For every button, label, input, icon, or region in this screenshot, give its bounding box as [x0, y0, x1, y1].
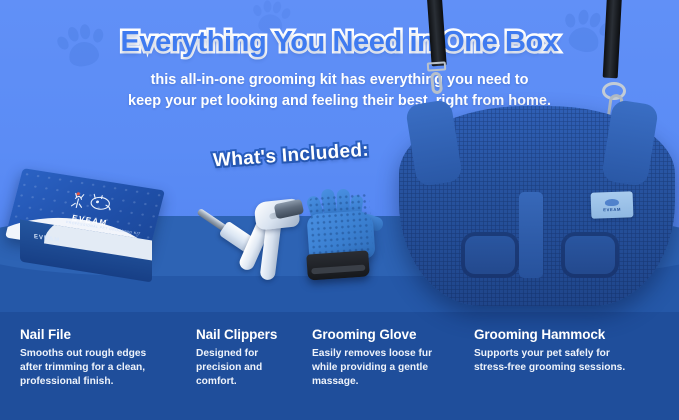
hammock-center-strap — [519, 192, 543, 278]
hammock-brand-label: EVEAM — [591, 191, 634, 218]
hammock-leg-hole — [561, 232, 619, 278]
paw-logo-icon — [605, 198, 619, 205]
strap-slider — [427, 61, 447, 71]
feature-list: Nail File Smooths out rough edges after … — [0, 327, 679, 420]
hammock-label-brand: EVEAM — [603, 206, 621, 212]
hammock-strap-right — [603, 0, 623, 78]
feature-item-grooming-hammock: Grooming Hammock Supports your pet safel… — [474, 327, 670, 375]
feature-item-nail-file: Nail File Smooths out rough edges after … — [20, 327, 188, 389]
feature-description: Smooths out rough edges after trimming f… — [20, 347, 188, 389]
feature-item-grooming-glove: Grooming Glove Easily removes loose fur … — [312, 327, 464, 389]
grooming-hammock-icon: EVEAM — [395, 0, 679, 312]
feature-description: Designed for precision and comfort. — [196, 347, 302, 389]
feature-title: Nail Clippers — [196, 327, 302, 342]
grooming-glove-icon — [299, 185, 389, 287]
feature-description: Supports your pet safely for stress-free… — [474, 347, 670, 375]
product-infographic: Everything You Need in One Box this all-… — [0, 0, 679, 420]
hammock-strap-left — [426, 0, 446, 66]
hammock-hook-left — [430, 71, 443, 94]
feature-description: Easily removes loose fur while providing… — [312, 347, 464, 389]
feature-title: Grooming Hammock — [474, 327, 670, 342]
feature-title: Nail File — [20, 327, 188, 342]
feature-title: Grooming Glove — [312, 327, 464, 342]
product-box-image: EVEAM PROFESSIONAL PET GROOMING KIT EVEA… — [12, 178, 162, 286]
glove-cuff — [306, 250, 370, 280]
feature-item-nail-clippers: Nail Clippers Designed for precision and… — [196, 327, 302, 389]
hammock-leg-hole — [461, 232, 519, 278]
